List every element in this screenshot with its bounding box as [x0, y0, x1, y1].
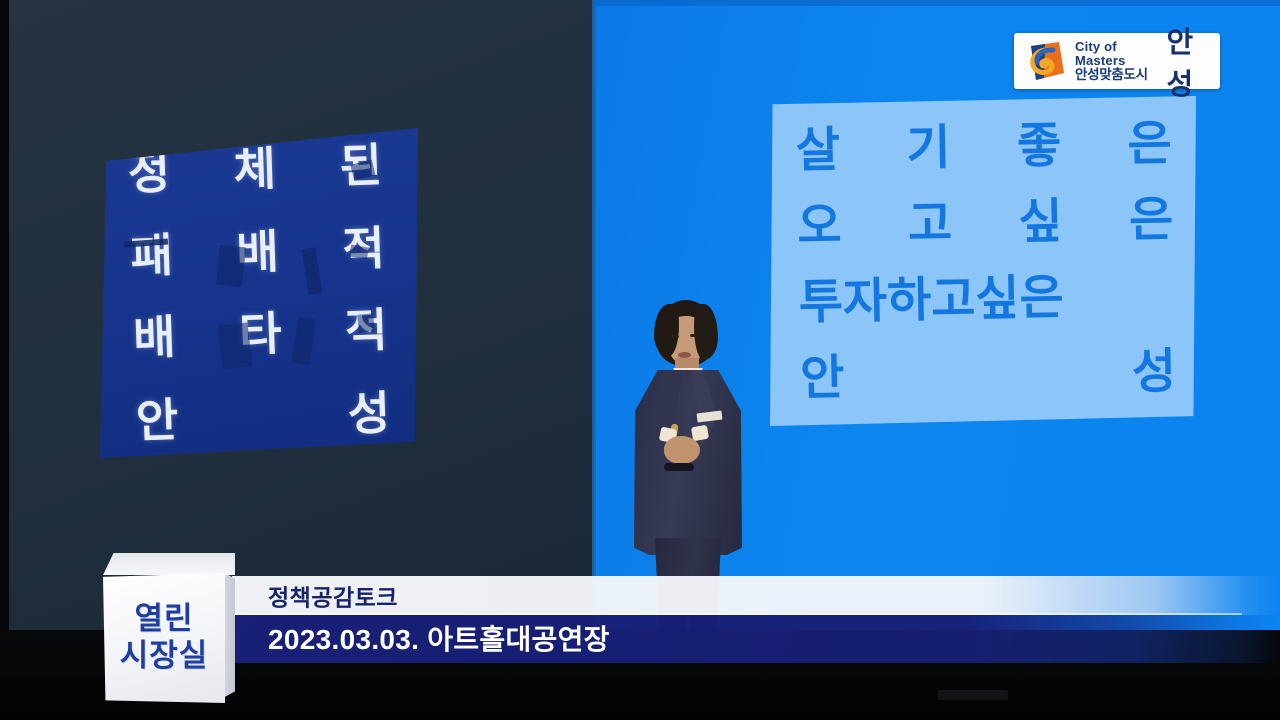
slide-left-text-grid: 정 체 된 패 배 적 배 타 적 안 성: [95, 123, 424, 463]
slide-right-phrase: 투자하고싶은: [798, 274, 1064, 327]
lower-third-title-bar: 정책공감토크: [232, 576, 1280, 615]
program-badge-line2: 시장실: [120, 640, 209, 673]
slide-right-char: 안: [800, 355, 845, 404]
speaker-eye-right: [690, 334, 697, 337]
logo-city-name: 안성: [1166, 19, 1211, 103]
program-badge-cube-face: 열린 시장실: [103, 573, 225, 703]
slide-right-char: 살: [795, 127, 840, 176]
slide-left-char: 체: [233, 146, 277, 193]
slide-right-row: 안 성: [800, 348, 1177, 403]
slide-left-char: 적: [344, 307, 388, 354]
slide-left-panel: 정 체 된 패 배 적 배 타 적 안 성: [100, 128, 418, 458]
city-logo-watermark: City of Masters 안성맞춤도시 안성: [1014, 33, 1220, 89]
slide-right-char: 싶: [1018, 198, 1063, 247]
slide-left-char: 패: [130, 232, 174, 279]
speaker-eye-left: [672, 335, 679, 338]
slide-right-row: 살 기 좋 은: [795, 120, 1172, 175]
slide-right-row: 오 고 싶 은: [797, 196, 1174, 251]
slide-left-char: 배: [133, 314, 177, 361]
logo-english-tagline: City of Masters: [1075, 40, 1158, 68]
slide-right-panel: 살 기 좋 은 오 고 싶 은 투자하고싶은 안 성: [770, 96, 1196, 426]
slide-right-text-rows: 살 기 좋 은 오 고 싶 은 투자하고싶은 안 성: [767, 92, 1199, 430]
broadcast-video-frame: 정 체 된 패 배 적 배 타 적 안 성 살 기 좋: [0, 0, 1280, 720]
slide-right-char: 오: [797, 203, 842, 252]
speaker-hair-left: [654, 304, 679, 356]
program-badge-cube: 열린 시장실: [103, 553, 235, 705]
logo-korean-tagline: 안성맞춤도시: [1075, 68, 1158, 83]
lower-third-subtitle: 2023.03.03. 아트홀대공연장: [268, 618, 610, 658]
slide-right-char: 기: [906, 125, 951, 174]
slide-right-char: 좋: [1017, 122, 1062, 171]
slide-right-char: 고: [907, 201, 952, 250]
wall-left-black-edge: [0, 0, 9, 660]
slide-left-char: 배: [236, 228, 280, 275]
slide-left-char: 안: [135, 397, 179, 444]
speaker-belt: [664, 463, 694, 471]
speaker-hands: [664, 436, 700, 464]
slide-right-char: 은: [1129, 196, 1174, 245]
lower-third-divider: [232, 613, 1242, 615]
screen-top-strip: [594, 0, 1280, 6]
screen-seam: [592, 0, 596, 650]
slide-left-char: 된: [339, 142, 383, 189]
slide-right-char: 은: [1127, 120, 1172, 169]
slide-left-char: 적: [342, 225, 386, 272]
program-badge-cube-top: [103, 553, 235, 575]
slide-left-char: 성: [347, 389, 391, 436]
anseong-emblem-icon: [1023, 40, 1067, 82]
program-badge-line1: 열린: [134, 603, 193, 636]
stage-floor-object: [938, 690, 1008, 700]
logo-text-block: City of Masters 안성맞춤도시 안성: [1075, 19, 1211, 103]
slide-left-char: 타: [238, 311, 282, 358]
slide-right-row: 투자하고싶은: [798, 272, 1175, 327]
speaker-hair-right: [694, 304, 718, 360]
slide-right-char: 성: [1132, 348, 1177, 397]
lower-third-title: 정책공감토크: [268, 578, 398, 612]
logo-taglines: City of Masters 안성맞춤도시: [1075, 40, 1158, 83]
lower-third-subtitle-bar: 2023.03.03. 아트홀대공연장: [232, 615, 1280, 663]
